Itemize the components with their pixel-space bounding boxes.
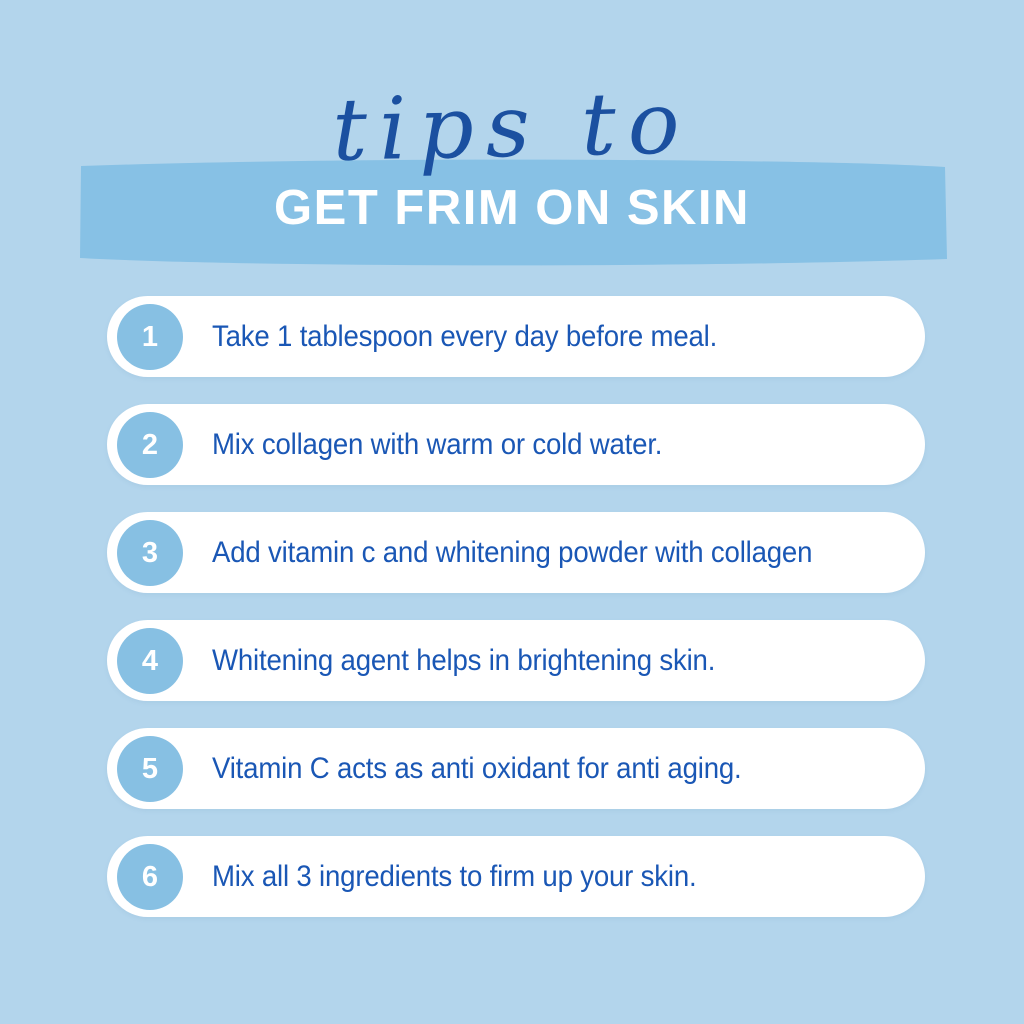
tip-number-badge: 3 xyxy=(117,520,183,586)
tip-number-badge: 5 xyxy=(117,736,183,802)
tip-number-badge: 1 xyxy=(117,304,183,370)
list-item[interactable]: 5 Vitamin C acts as anti oxidant for ant… xyxy=(107,728,925,809)
list-item[interactable]: 6 Mix all 3 ingredients to firm up your … xyxy=(107,836,925,917)
tip-text: Vitamin C acts as anti oxidant for anti … xyxy=(212,752,868,786)
poster-header: tips to GET FRIM ON SKIN xyxy=(0,0,1024,280)
tips-list: 1 Take 1 tablespoon every day before mea… xyxy=(107,296,925,917)
tip-text: Whitening agent helps in brightening ski… xyxy=(212,644,868,678)
page-title: GET FRIM ON SKIN xyxy=(0,180,1024,236)
infographic-poster: tips to GET FRIM ON SKIN 1 Take 1 tables… xyxy=(0,0,1024,1024)
list-item[interactable]: 3 Add vitamin c and whitening powder wit… xyxy=(107,512,925,593)
list-item[interactable]: 1 Take 1 tablespoon every day before mea… xyxy=(107,296,925,377)
tip-text: Mix collagen with warm or cold water. xyxy=(212,428,868,462)
list-item[interactable]: 2 Mix collagen with warm or cold water. xyxy=(107,404,925,485)
tip-text: Mix all 3 ingredients to firm up your sk… xyxy=(212,860,868,894)
tip-number-badge: 4 xyxy=(117,628,183,694)
tip-number-badge: 2 xyxy=(117,412,183,478)
tip-text: Take 1 tablespoon every day before meal. xyxy=(212,320,868,354)
tip-text: Add vitamin c and whitening powder with … xyxy=(212,536,868,570)
tip-number-badge: 6 xyxy=(117,844,183,910)
list-item[interactable]: 4 Whitening agent helps in brightening s… xyxy=(107,620,925,701)
